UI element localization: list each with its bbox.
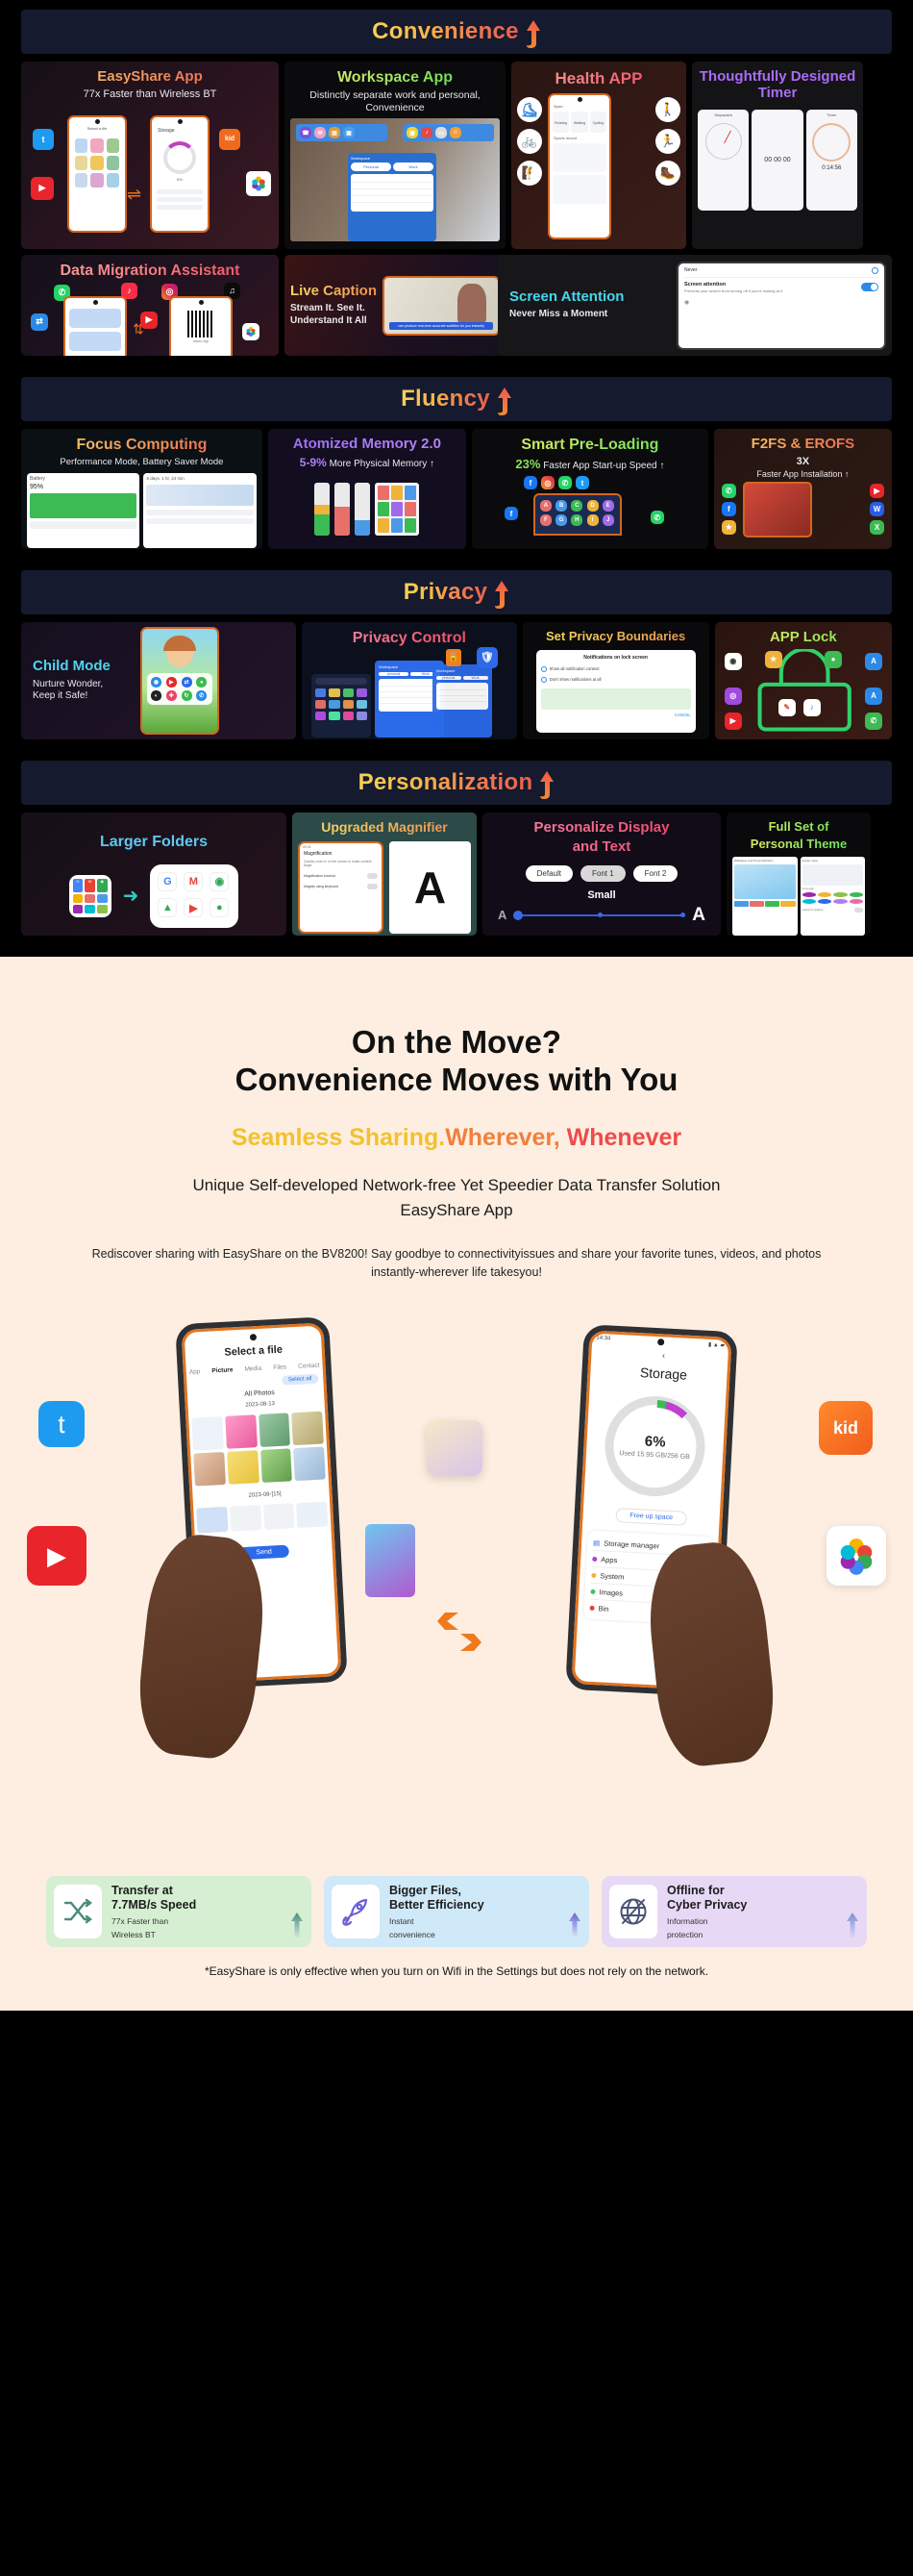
feature-sub-1: 77x Faster than bbox=[111, 1916, 290, 1927]
magnifier-toggle-2[interactable] bbox=[367, 884, 378, 889]
card-live-caption[interactable]: Live Caption Stream It. See It. Understa… bbox=[284, 255, 506, 356]
card-f2fs-erofs[interactable]: F2FS & EROFS 3X Faster App Installation … bbox=[714, 429, 892, 549]
tagline-part-3: Whenever bbox=[560, 1124, 681, 1151]
font-chip-font2[interactable]: Font 2 bbox=[633, 865, 679, 882]
youtube-icon: ▶ bbox=[31, 177, 54, 200]
timer-panel: Timer 0:14:56 bbox=[806, 110, 857, 211]
dialog-cancel-button[interactable]: CANCEL bbox=[541, 713, 691, 717]
battery-saver-panel: 6 days, 1 hr, 24 min bbox=[143, 473, 256, 548]
card-easyshare[interactable]: EasyShare App 77x Faster than Wireless B… bbox=[21, 62, 279, 249]
card-atomized-memory[interactable]: Atomized Memory 2.0 5-9% More Physical M… bbox=[268, 429, 466, 549]
arrow-up-icon bbox=[846, 1913, 859, 1938]
kid-icon: kid bbox=[819, 1401, 873, 1455]
card-child-mode[interactable]: Child Mode Nurture Wonder, Keep it Safe!… bbox=[21, 622, 296, 739]
fluency-row: Focus Computing Performance Mode, Batter… bbox=[0, 429, 913, 549]
card-title-1: Full Set of bbox=[732, 820, 865, 835]
status-time: 14:34 bbox=[596, 1336, 610, 1343]
tagline-part-2: Wherever, bbox=[445, 1124, 560, 1151]
card-workspace[interactable]: Workspace App Distinctly separate work a… bbox=[284, 62, 506, 249]
card-title: Live Caption bbox=[290, 284, 382, 300]
setting-desc: Prevents your screen from turning off if… bbox=[684, 288, 855, 293]
hiking-icon: 🥾 bbox=[655, 161, 680, 186]
feature-card-bigger-files[interactable]: Bigger Files, Better Efficiency Instant … bbox=[324, 1876, 589, 1947]
arrow-up-icon bbox=[539, 771, 555, 800]
radio-hide-all[interactable] bbox=[541, 677, 547, 683]
countdown-panel: 00 00 00 bbox=[752, 110, 802, 211]
feature-sub-2: protection bbox=[667, 1930, 846, 1940]
photos-icon bbox=[246, 171, 271, 196]
exchange-arrows-icon bbox=[437, 1613, 481, 1651]
shared-game-thumbnail bbox=[365, 1524, 415, 1597]
card-health[interactable]: Health APP ⛸ 🚲 🧗 Sport Running Walking C bbox=[511, 62, 686, 249]
section-title: Privacy bbox=[404, 579, 488, 606]
card-subtitle: Performance Mode, Battery Saver Mode bbox=[27, 457, 257, 468]
theme-panel-wallpaper: Wallpaper and Personalization bbox=[732, 857, 798, 936]
card-personal-theme[interactable]: Full Set of Personal Theme Wallpaper and… bbox=[727, 813, 871, 936]
exchange-arrows-icon: ⇌ bbox=[127, 185, 141, 205]
feature-title-1: Transfer at bbox=[111, 1884, 290, 1898]
card-subtitle-1: Stream It. See It. bbox=[290, 303, 382, 315]
youtube-icon: ▶ bbox=[27, 1526, 86, 1586]
convenience-row-1: EasyShare App 77x Faster than Wireless B… bbox=[0, 62, 913, 249]
card-title: Upgraded Magnifier bbox=[298, 820, 471, 836]
feature-sub-1: Information bbox=[667, 1916, 846, 1927]
big-a-label: A bbox=[692, 905, 705, 926]
feature-title-2: 7.7MB/s Speed bbox=[111, 1898, 290, 1913]
small-a-label: A bbox=[498, 908, 506, 922]
shuffle-transfer-icon bbox=[54, 1885, 102, 1938]
setting-never-label: Never bbox=[684, 267, 697, 273]
card-timer[interactable]: Thoughtfully Designed Timer Stopwatch 00… bbox=[692, 62, 863, 249]
section-banner-fluency: Fluency bbox=[21, 377, 892, 421]
section-banner-privacy: Privacy bbox=[21, 570, 892, 614]
arrow-up-icon bbox=[568, 1913, 581, 1938]
storage-ring: 6% Used 15.95 GB/256 GB bbox=[603, 1394, 707, 1499]
notification-dialog: Notifications on lock screen Show all no… bbox=[536, 650, 696, 733]
text-size-slider[interactable] bbox=[513, 914, 685, 916]
card-title: Health APP bbox=[517, 69, 680, 88]
hero-sub-line-1: Unique Self-developed Network-free Yet S… bbox=[0, 1173, 913, 1198]
section-banner-personalization: Personalization bbox=[21, 761, 892, 805]
back-icon[interactable]: ‹ bbox=[596, 1347, 730, 1363]
dialog-title: Notifications on lock screen bbox=[541, 655, 691, 661]
left-screen-title: Select a file bbox=[182, 1338, 325, 1362]
photos-icon bbox=[827, 1526, 886, 1586]
feature-sub-2: convenience bbox=[389, 1930, 568, 1940]
card-app-lock[interactable]: APP Lock ◉ ★ ● A ◎ A ✎ ♪ ▶ ✆ bbox=[715, 622, 892, 739]
feature-title-1: Offline for bbox=[667, 1884, 846, 1898]
photos-icon bbox=[242, 323, 259, 340]
free-up-space-button[interactable]: Free up space bbox=[615, 1508, 687, 1526]
row-label: Bin bbox=[598, 1604, 608, 1613]
card-title: Data Migration Assistant bbox=[27, 263, 273, 280]
twitter-icon: t bbox=[38, 1401, 85, 1447]
easyshare-icon: ⇄ bbox=[31, 313, 48, 331]
card-title: Larger Folders bbox=[27, 834, 281, 851]
card-stat-sub: Faster App Installation ↑ bbox=[720, 469, 886, 480]
radio-show-all[interactable] bbox=[541, 666, 547, 672]
card-screen-attention[interactable]: Screen Attention Never Miss a Moment Nev… bbox=[498, 255, 892, 356]
card-title-2: Personal Theme bbox=[732, 838, 865, 852]
select-all-button[interactable]: Select all bbox=[282, 1374, 319, 1386]
tab-app[interactable]: App bbox=[189, 1368, 201, 1376]
right-screen-title: Storage bbox=[597, 1363, 730, 1385]
opacity-toggle[interactable] bbox=[854, 908, 863, 913]
card-stat-sub: More Physical Memory ↑ bbox=[330, 459, 434, 469]
personalization-row: Larger Folders G M ◉ ➜ G M ◉ ▲ bbox=[0, 813, 913, 936]
arrow-up-icon bbox=[494, 581, 509, 610]
storage-manager-label: Storage manager bbox=[604, 1538, 659, 1550]
running-icon: 🏃 bbox=[655, 129, 680, 154]
hero-tagline: Seamless Sharing.Wherever, Whenever bbox=[0, 1124, 913, 1152]
transfer-showcase: t ▶ kid Select a file App Picture Media … bbox=[0, 1295, 913, 1872]
card-title: Screen Attention bbox=[509, 289, 677, 306]
right-hand bbox=[642, 1538, 779, 1770]
arrow-up-icon bbox=[497, 388, 512, 416]
card-smart-preloading[interactable]: Smart Pre-Loading 23% Faster App Start-u… bbox=[472, 429, 708, 549]
location-icon: ◉ bbox=[684, 299, 878, 306]
magnifier-toggle-1[interactable] bbox=[367, 873, 378, 879]
tab-media[interactable]: Media bbox=[244, 1365, 261, 1373]
card-subtitle: Distinctly separate work and personal, C… bbox=[290, 89, 500, 114]
row-label: System bbox=[600, 1571, 624, 1581]
feature-title-1: Bigger Files, bbox=[389, 1884, 568, 1898]
hero-section: On the Move? Convenience Moves with You … bbox=[0, 957, 913, 2011]
card-title: Privacy Control bbox=[308, 630, 510, 647]
tagline-part-1: Seamless Sharing. bbox=[232, 1124, 445, 1151]
font-chip-default[interactable]: Default bbox=[526, 865, 573, 882]
row-label: Apps bbox=[601, 1555, 618, 1564]
arrow-up-icon bbox=[526, 20, 541, 49]
card-title: Workspace App bbox=[290, 69, 500, 87]
climbing-icon: 🧗 bbox=[517, 161, 542, 186]
hero-line-1: On the Move? bbox=[0, 1024, 913, 1062]
section-banner-convenience: Convenience bbox=[21, 10, 892, 54]
magnifier-screen-title: Magnification bbox=[304, 851, 382, 857]
arrow-right-icon: ➜ bbox=[123, 884, 139, 908]
card-title: APP Lock bbox=[721, 630, 886, 646]
feature-sub-2: Wireless BT bbox=[111, 1930, 290, 1940]
screen-attention-toggle[interactable] bbox=[861, 283, 878, 291]
feature-cards-row: Transfer at 7.7MB/s Speed 77x Faster tha… bbox=[0, 1876, 913, 1947]
hero-description: Rediscover sharing with EasyShare on the… bbox=[72, 1245, 841, 1283]
skating-icon: ⛸ bbox=[517, 97, 542, 122]
dialog-option-2: Don't show notifications at all bbox=[550, 677, 602, 682]
feature-card-offline[interactable]: Offline for Cyber Privacy Information pr… bbox=[602, 1876, 867, 1947]
card-subtitle: Never Miss a Moment bbox=[509, 309, 677, 321]
card-upgraded-magnifier[interactable]: Upgraded Magnifier 09:41 Magnification Q… bbox=[292, 813, 477, 936]
hero-subtitle: Unique Self-developed Network-free Yet S… bbox=[0, 1173, 913, 1224]
card-privacy-boundaries[interactable]: Set Privacy Boundaries Notifications on … bbox=[523, 622, 709, 739]
card-title: Set Privacy Boundaries bbox=[529, 630, 703, 644]
card-title-1: Personalize Display bbox=[488, 820, 715, 837]
feature-card-transfer[interactable]: Transfer at 7.7MB/s Speed 77x Faster tha… bbox=[46, 1876, 311, 1947]
shared-file-thumbnail bbox=[427, 1420, 482, 1476]
feature-sub-1: Instant bbox=[389, 1916, 568, 1927]
cycling-icon: 🚲 bbox=[517, 129, 542, 154]
shield-icon: 🛡 bbox=[477, 647, 498, 668]
exchange-arrows-icon: ⇅ bbox=[133, 321, 144, 338]
card-title: Thoughtfully Designed Timer bbox=[698, 69, 857, 102]
card-title: Atomized Memory 2.0 bbox=[274, 437, 460, 453]
section-title: Personalization bbox=[358, 769, 533, 796]
theme-panel-style: system style Icons style opacity for des… bbox=[801, 857, 866, 936]
card-data-migration[interactable]: Data Migration Assistant ✆ ♪ ◎ ♫ ⇄ ▶ bbox=[21, 255, 279, 356]
status-icons: ▮ ▲ ▰ bbox=[708, 1341, 726, 1349]
card-subtitle-2: Keep it Safe! bbox=[33, 690, 140, 703]
walking-icon: 🚶 bbox=[655, 97, 680, 122]
section-title: Convenience bbox=[372, 18, 519, 45]
card-personalize-display[interactable]: Personalize Display and Text Default Fon… bbox=[482, 813, 721, 936]
card-privacy-control[interactable]: Privacy Control Workspace personal bbox=[302, 622, 516, 739]
card-title: EasyShare App bbox=[27, 69, 273, 86]
row-label: Images bbox=[599, 1588, 623, 1597]
battery-panel: Battery 95% bbox=[27, 473, 139, 548]
hero-line-2: Convenience Moves with You bbox=[0, 1062, 913, 1099]
card-stat: 3X bbox=[720, 456, 886, 469]
tab-files[interactable]: Files bbox=[273, 1364, 286, 1372]
card-stat: 5-9% bbox=[300, 456, 327, 469]
font-chip-font1[interactable]: Font 1 bbox=[580, 865, 626, 882]
feature-title-2: Better Efficiency bbox=[389, 1898, 568, 1913]
dark-feature-block: Convenience EasyShare App 77x Faster tha… bbox=[0, 10, 913, 957]
privacy-row: Child Mode Nurture Wonder, Keep it Safe!… bbox=[0, 622, 913, 739]
dialog-option-1: Show all notification content bbox=[550, 666, 600, 671]
card-title: F2FS & EROFS bbox=[720, 437, 886, 453]
left-hand bbox=[133, 1531, 270, 1763]
magnified-letter-panel: A bbox=[389, 841, 471, 934]
arrow-up-icon bbox=[290, 1913, 304, 1938]
footnote: *EasyShare is only effective when you tu… bbox=[0, 1964, 913, 1978]
card-focus-computing[interactable]: Focus Computing Performance Mode, Batter… bbox=[21, 429, 262, 549]
slider-label: Small bbox=[488, 889, 715, 901]
twitter-icon: t bbox=[33, 129, 54, 150]
lock-icon: 🔒 bbox=[446, 649, 461, 666]
card-subtitle-1: Nurture Wonder, bbox=[33, 679, 140, 691]
card-subtitle-2: Understand It All bbox=[290, 315, 382, 328]
feature-title-2: Cyber Privacy bbox=[667, 1898, 846, 1913]
page-title: On the Move? Convenience Moves with You bbox=[0, 1024, 913, 1099]
magnifier-screen-desc: Quickly zoom in on the screen to make co… bbox=[304, 860, 378, 868]
kid-icon: kid bbox=[219, 129, 240, 150]
rocket-icon bbox=[332, 1885, 380, 1938]
globe-offline-icon bbox=[609, 1885, 657, 1938]
card-stat: 23% bbox=[515, 457, 540, 471]
lock-outline-icon bbox=[721, 649, 886, 734]
card-title: Child Mode bbox=[33, 659, 140, 675]
card-stat-sub: Faster App Start-up Speed ↑ bbox=[543, 461, 664, 471]
card-subtitle: 77x Faster than Wireless BT bbox=[27, 88, 273, 102]
stopwatch-panel: Stopwatch bbox=[698, 110, 749, 211]
setting-title: Screen attention bbox=[684, 282, 855, 288]
hero-sub-line-2: EasyShare App bbox=[0, 1198, 913, 1223]
card-title: Focus Computing bbox=[27, 437, 257, 454]
section-title: Fluency bbox=[401, 386, 490, 413]
card-title-2: and Text bbox=[488, 839, 715, 856]
card-larger-folders[interactable]: Larger Folders G M ◉ ➜ G M ◉ ▲ bbox=[21, 813, 286, 936]
product-page: Convenience EasyShare App 77x Faster tha… bbox=[0, 0, 913, 2011]
card-title: Smart Pre-Loading bbox=[478, 437, 703, 454]
storage-manager-icon: ▤ bbox=[593, 1538, 601, 1547]
caption-text: can produce real-time accurate subtitles… bbox=[389, 322, 493, 330]
radio-never[interactable] bbox=[872, 267, 878, 274]
